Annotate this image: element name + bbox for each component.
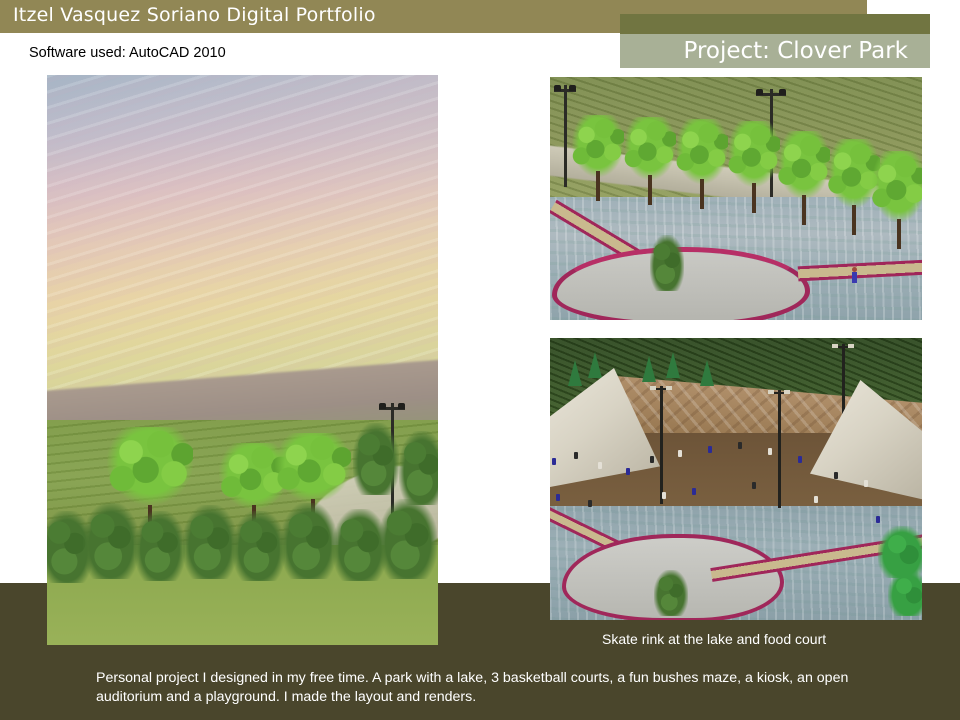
umbrella-table [670, 484, 685, 491]
tree [572, 115, 624, 201]
court-render-image [550, 338, 922, 620]
chair [662, 492, 666, 499]
shrub [233, 511, 285, 581]
umbrella-table [556, 450, 571, 457]
umbrella-table [722, 458, 737, 465]
shrub [379, 499, 437, 579]
portfolio-title: Itzel Vasquez Soriano Digital Portfolio [13, 4, 376, 26]
umbrella-table [848, 484, 863, 491]
shrub [183, 505, 237, 579]
shrub [83, 503, 139, 579]
umbrella-table [662, 466, 677, 473]
title-block-olive [620, 14, 930, 34]
umbrella-table [876, 492, 891, 499]
umbrella-table [730, 476, 745, 483]
umbrella-table [842, 466, 857, 473]
umbrella-table [854, 500, 869, 507]
chair [556, 494, 560, 501]
chair [678, 450, 682, 457]
chair [692, 488, 696, 495]
umbrella-table [814, 470, 829, 477]
chair [588, 500, 592, 507]
software-used-label: Software used: AutoCAD 2010 [29, 45, 226, 61]
shrub [399, 431, 438, 505]
umbrella-table [596, 492, 611, 499]
shrub [353, 423, 399, 495]
umbrella-table [584, 456, 599, 463]
chair [768, 448, 772, 455]
chair [864, 480, 868, 487]
umbrella-table [752, 456, 767, 463]
umbrella-table [700, 480, 715, 487]
skate-rink-caption: Skate rink at the lake and food court [602, 631, 826, 647]
conifer-tree [642, 356, 656, 382]
umbrella-table [560, 468, 575, 475]
tree [872, 151, 922, 249]
chair [552, 458, 556, 465]
chair [708, 446, 712, 453]
shrub [281, 503, 337, 579]
rink-tree [654, 570, 688, 616]
umbrella-table [760, 474, 775, 481]
shrub [888, 570, 922, 616]
tree [676, 119, 728, 209]
island-tree [650, 235, 684, 291]
chair [738, 442, 742, 449]
chair [814, 496, 818, 503]
chair [798, 456, 802, 463]
slide: Itzel Vasquez Soriano Digital Portfolio … [0, 0, 960, 720]
chair [598, 462, 602, 469]
umbrella-table [564, 486, 579, 493]
conifer-tree [666, 352, 680, 378]
conifer-tree [700, 360, 714, 386]
tree [624, 117, 676, 205]
umbrella-table [882, 508, 897, 515]
umbrella-table [686, 444, 701, 451]
umbrella-table [822, 488, 837, 495]
chair [650, 456, 654, 463]
conifer-tree [588, 352, 602, 378]
chair [574, 452, 578, 459]
umbrella-table [692, 462, 707, 469]
umbrella-table [658, 448, 673, 455]
project-description-caption: Personal project I designed in my free t… [96, 669, 896, 707]
umbrella-table [590, 474, 605, 481]
umbrella-table [612, 462, 627, 469]
main-render-image [47, 75, 438, 645]
lake-render-image [550, 77, 922, 320]
umbrella-table [790, 480, 805, 487]
umbrella-table [746, 436, 761, 443]
umbrella-table [620, 480, 635, 487]
shrub [135, 511, 185, 581]
chair [834, 472, 838, 479]
umbrella-table [776, 442, 791, 449]
person-figure [852, 267, 857, 283]
chair [752, 482, 756, 489]
umbrella-table [716, 438, 731, 445]
umbrella-table [806, 450, 821, 457]
umbrella-table [782, 462, 797, 469]
project-title: Project: Clover Park [620, 34, 920, 68]
tree [778, 131, 830, 225]
chair [876, 516, 880, 523]
tree [728, 121, 780, 213]
conifer-tree [568, 360, 582, 386]
chair [626, 468, 630, 475]
street-lamp-icon [650, 386, 672, 504]
umbrella-table [870, 474, 885, 481]
